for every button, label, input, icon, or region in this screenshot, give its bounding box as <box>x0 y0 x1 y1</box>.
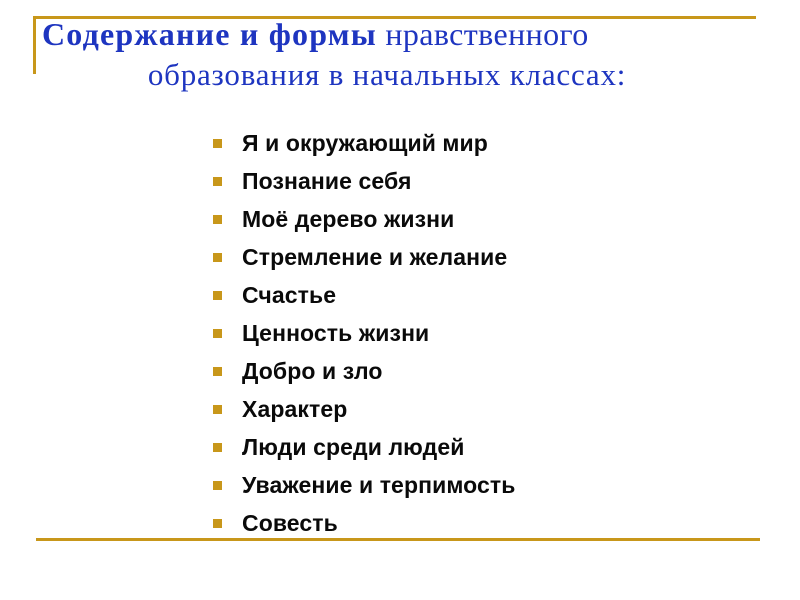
list-item: Я и окружающий мир <box>212 124 772 162</box>
list-item-label: Познание себя <box>242 162 412 200</box>
list-item: Ценность жизни <box>212 314 772 352</box>
square-bullet-icon <box>213 519 222 528</box>
list-item: Совесть <box>212 504 772 542</box>
list-item-label: Совесть <box>242 504 338 542</box>
list-item-label: Стремление и желание <box>242 238 507 276</box>
list-item-label: Счастье <box>242 276 336 314</box>
list-item: Познание себя <box>212 162 772 200</box>
title-line-2: образования в начальных классах: <box>36 59 764 92</box>
list-item-label: Характер <box>242 390 347 428</box>
title-emphasis: Содержание и формы <box>42 16 377 52</box>
list-item-label: Добро и зло <box>242 352 383 390</box>
slide-canvas: Содержание и формы нравственного образов… <box>0 0 800 600</box>
square-bullet-icon <box>213 177 222 186</box>
title-line-1: Содержание и формы нравственного <box>42 18 764 52</box>
title-continuation: нравственного <box>377 16 589 52</box>
list-item-label: Люди среди людей <box>242 428 464 466</box>
topic-list: Я и окружающий мир Познание себя Моё дер… <box>212 124 772 542</box>
list-item-label: Я и окружающий мир <box>242 124 488 162</box>
list-item: Добро и зло <box>212 352 772 390</box>
square-bullet-icon <box>213 329 222 338</box>
list-item-label: Моё дерево жизни <box>242 200 454 238</box>
square-bullet-icon <box>213 215 222 224</box>
list-item-label: Уважение и терпимость <box>242 466 515 504</box>
list-item: Характер <box>212 390 772 428</box>
square-bullet-icon <box>213 367 222 376</box>
list-item: Счастье <box>212 276 772 314</box>
list-item: Люди среди людей <box>212 428 772 466</box>
list-item: Уважение и терпимость <box>212 466 772 504</box>
square-bullet-icon <box>213 405 222 414</box>
square-bullet-icon <box>213 291 222 300</box>
square-bullet-icon <box>213 481 222 490</box>
list-item: Моё дерево жизни <box>212 200 772 238</box>
list-item: Стремление и желание <box>212 238 772 276</box>
slide-title: Содержание и формы нравственного образов… <box>36 18 764 92</box>
square-bullet-icon <box>213 443 222 452</box>
square-bullet-icon <box>213 253 222 262</box>
list-item-label: Ценность жизни <box>242 314 429 352</box>
square-bullet-icon <box>213 139 222 148</box>
